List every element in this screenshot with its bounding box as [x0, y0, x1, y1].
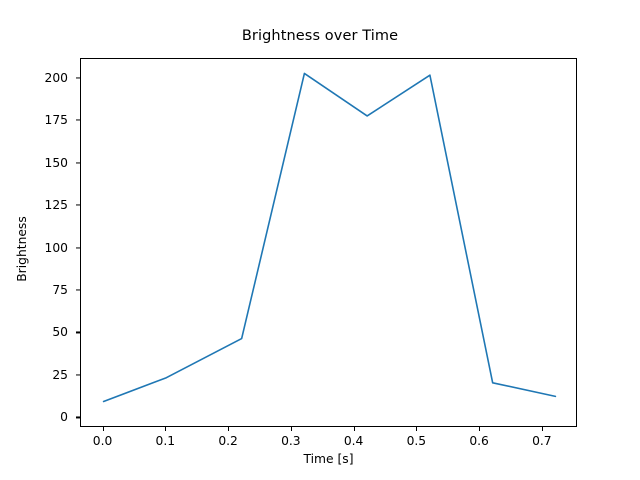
x-tick-label: 0.3: [266, 434, 316, 448]
x-tick-label: 0.7: [517, 434, 567, 448]
y-axis-label: Brightness: [15, 169, 29, 329]
y-tick-label: 125: [28, 198, 68, 212]
data-series-line: [81, 59, 578, 428]
y-tick-label: 200: [28, 71, 68, 85]
x-tick-label: 0.4: [329, 434, 379, 448]
chart-title: Brightness over Time: [0, 28, 640, 44]
y-tick-label: 0: [28, 410, 68, 424]
y-tick-label: 25: [28, 368, 68, 382]
x-tick-label: 0.6: [454, 434, 504, 448]
y-tick-label: 175: [28, 113, 68, 127]
y-tick-label: 150: [28, 156, 68, 170]
brightness-line-path: [104, 73, 556, 401]
chart-figure: Brightness over Time 0255075100125150175…: [0, 0, 640, 480]
x-axis-label: Time [s]: [80, 452, 577, 466]
plot-area: [80, 58, 577, 427]
y-tick-label: 50: [28, 325, 68, 339]
x-tick-label: 0.2: [203, 434, 253, 448]
x-tick-label: 0.0: [78, 434, 128, 448]
x-tick-label: 0.5: [391, 434, 441, 448]
y-tick-label: 75: [28, 283, 68, 297]
y-tick-label: 100: [28, 241, 68, 255]
x-tick-label: 0.1: [140, 434, 190, 448]
